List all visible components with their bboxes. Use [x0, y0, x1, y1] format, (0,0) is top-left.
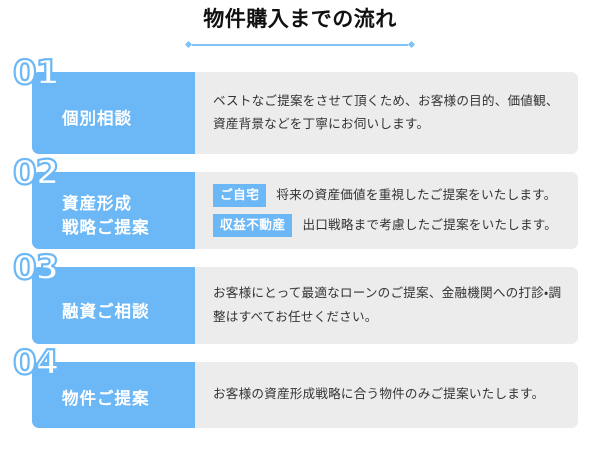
step-description: ベストなご提案をさせて頂くため、お客様の目的、価値観、資産背景などを丁寧にお伺い…: [213, 90, 564, 137]
step-label-text: 物件ご提案: [62, 378, 150, 412]
step-row: 03 融資ご相談 お客様にとって最適なローンのご提案、金融機関への打診・調整はす…: [32, 267, 578, 344]
step-row: 04 物件ご提案 お客様の資産形成戦略に合う物件のみご提案いたします。: [32, 362, 578, 428]
badge-item: ご自宅 将来の資産価値を重視したご提案をいたします。: [213, 184, 564, 207]
rule-dot-right-icon: [408, 41, 415, 48]
rule-line: [192, 44, 408, 46]
page-header: 物件購入までの流れ: [0, 0, 600, 50]
badge-list: ご自宅 将来の資産価値を重視したご提案をいたします。 収益不動産 出口戦略まで考…: [213, 184, 564, 236]
step-description: お客様にとって最適なローンのご提案、金融機関への打診・調整はすべてお任せください…: [213, 282, 564, 329]
step-label-panel: 04 物件ご提案: [32, 362, 195, 428]
step-body-panel: ご自宅 将来の資産価値を重視したご提案をいたします。 収益不動産 出口戦略まで考…: [195, 172, 578, 249]
step-body-panel: お客様の資産形成戦略に合う物件のみご提案いたします。: [195, 362, 578, 428]
step-label-panel: 01 個別相談: [32, 72, 195, 154]
title-decorative-rule: [186, 40, 414, 50]
badge-description: 出口戦略まで考慮したご提案をいたします。: [302, 216, 557, 235]
step-label-text: 個別相談: [62, 94, 132, 132]
step-number-02: 02: [13, 156, 58, 190]
step-number-04: 04: [13, 346, 58, 380]
page-title: 物件購入までの流れ: [0, 7, 600, 32]
step-label-panel: 03 融資ご相談: [32, 267, 195, 344]
status-badge: ご自宅: [213, 184, 266, 207]
badge-item: 収益不動産 出口戦略まで考慮したご提案をいたします。: [213, 214, 564, 237]
rule-dot-left-icon: [185, 41, 192, 48]
step-description: お客様の資産形成戦略に合う物件のみご提案いたします。: [213, 383, 564, 406]
badge-description: 将来の資産価値を重視したご提案をいたします。: [276, 186, 556, 205]
step-row: 02 資産形成 戦略ご提案 ご自宅 将来の資産価値を重視したご提案をいたします。…: [32, 172, 578, 249]
step-row: 01 個別相談 ベストなご提案をさせて頂くため、お客様の目的、価値観、資産背景な…: [32, 72, 578, 154]
step-number-01: 01: [13, 56, 58, 90]
step-label-text: 資産形成 戦略ご提案: [62, 181, 150, 241]
step-label-panel: 02 資産形成 戦略ご提案: [32, 172, 195, 249]
step-label-text: 融資ご相談: [62, 287, 150, 325]
status-badge: 収益不動産: [213, 214, 292, 237]
steps-list: 01 個別相談 ベストなご提案をさせて頂くため、お客様の目的、価値観、資産背景な…: [32, 72, 578, 428]
step-body-panel: お客様にとって最適なローンのご提案、金融機関への打診・調整はすべてお任せください…: [195, 267, 578, 344]
step-body-panel: ベストなご提案をさせて頂くため、お客様の目的、価値観、資産背景などを丁寧にお伺い…: [195, 72, 578, 154]
step-number-03: 03: [13, 251, 58, 285]
